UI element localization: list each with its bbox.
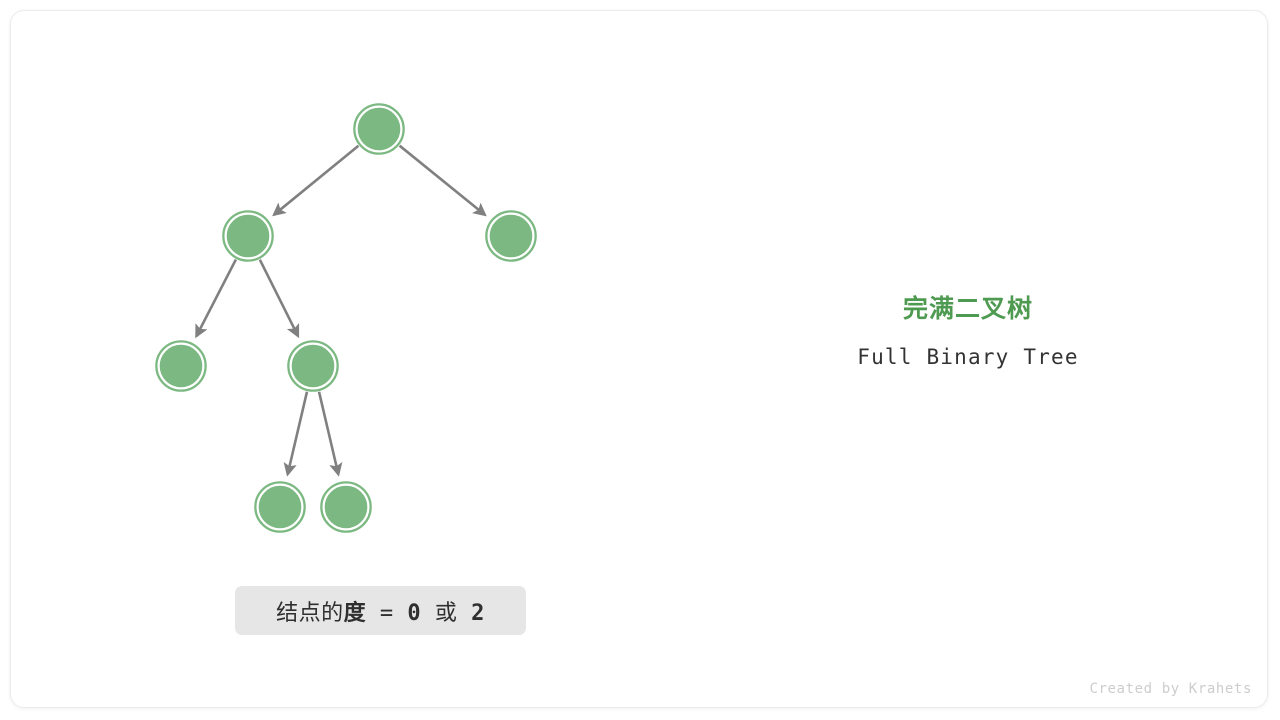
page-title-en: Full Binary Tree <box>768 342 1168 372</box>
tree-edge-left-to-left-right <box>260 260 298 336</box>
degree-badge-part-5: 2 <box>471 601 485 626</box>
tree-node-right[interactable] <box>486 211 536 261</box>
degree-badge-part-3: 0 <box>407 601 421 626</box>
degree-badge-part-1: 度 <box>344 601 367 626</box>
degree-badge-part-0: 结点的 <box>276 601 344 626</box>
tree-node-core <box>490 215 532 257</box>
tree-edge-left-to-left-left <box>196 260 236 337</box>
tree-node-root[interactable] <box>354 104 404 154</box>
tree-node-core <box>160 345 202 387</box>
tree-edge-layer <box>196 146 485 475</box>
tree-edge-root-to-left <box>274 146 359 215</box>
tree-edge-left-right-to-left-right-right <box>319 392 338 475</box>
tree-node-left[interactable] <box>223 211 273 261</box>
tree-edge-root-to-right <box>400 146 485 215</box>
degree-badge-part-4: 或 <box>421 601 471 626</box>
tree-node-left-left[interactable] <box>156 341 206 391</box>
tree-node-core <box>259 486 301 528</box>
title-block: 完满二叉树 Full Binary Tree <box>768 292 1168 372</box>
degree-badge: 结点的度 = 0 或 2 <box>235 586 526 635</box>
tree-node-left-right-right[interactable] <box>321 482 371 532</box>
tree-node-core <box>292 345 334 387</box>
tree-node-left-right[interactable] <box>288 341 338 391</box>
tree-node-core <box>358 108 400 150</box>
tree-node-core <box>227 215 269 257</box>
tree-node-layer <box>156 104 536 532</box>
diagram-canvas: 完满二叉树 Full Binary Tree 结点的度 = 0 或 2 Crea… <box>0 0 1280 720</box>
degree-badge-label: 结点的度 = 0 或 2 <box>276 595 485 627</box>
page-title-cn: 完满二叉树 <box>768 292 1168 326</box>
tree-node-core <box>325 486 367 528</box>
watermark: Created by Krahets <box>1089 681 1252 697</box>
tree-node-left-right-left[interactable] <box>255 482 305 532</box>
degree-badge-part-2: = <box>366 601 407 626</box>
tree-edge-left-right-to-left-right-left <box>288 392 307 475</box>
